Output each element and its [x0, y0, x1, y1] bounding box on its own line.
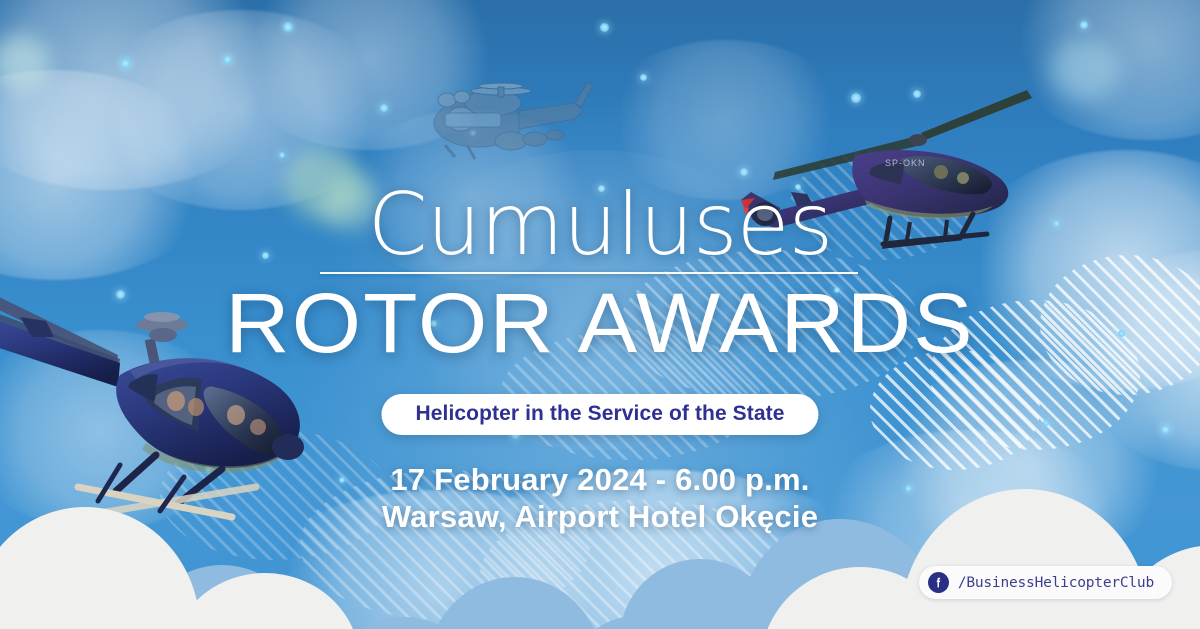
subtitle-badge: Helicopter in the Service of the State [381, 394, 818, 435]
title-script: Cumuluses [0, 182, 1200, 268]
title-divider-rule [320, 272, 858, 274]
facebook-icon [928, 572, 949, 593]
subtitle-text: Helicopter in the Service of the State [415, 402, 784, 425]
poster-canvas: SP-OKN [0, 0, 1200, 629]
facebook-handle: /BusinessHelicopterClub [958, 575, 1154, 591]
event-venue: Warsaw, Airport Hotel Okęcie [0, 499, 1200, 536]
page-title: ROTOR AWARDS [0, 281, 1200, 365]
poster-content: Cumuluses ROTOR AWARDS Helicopter in the… [0, 0, 1200, 629]
event-details: 17 February 2024 - 6.00 p.m. Warsaw, Air… [0, 462, 1200, 535]
facebook-badge[interactable]: /BusinessHelicopterClub [919, 566, 1172, 599]
event-date: 17 February 2024 - 6.00 p.m. [0, 462, 1200, 499]
